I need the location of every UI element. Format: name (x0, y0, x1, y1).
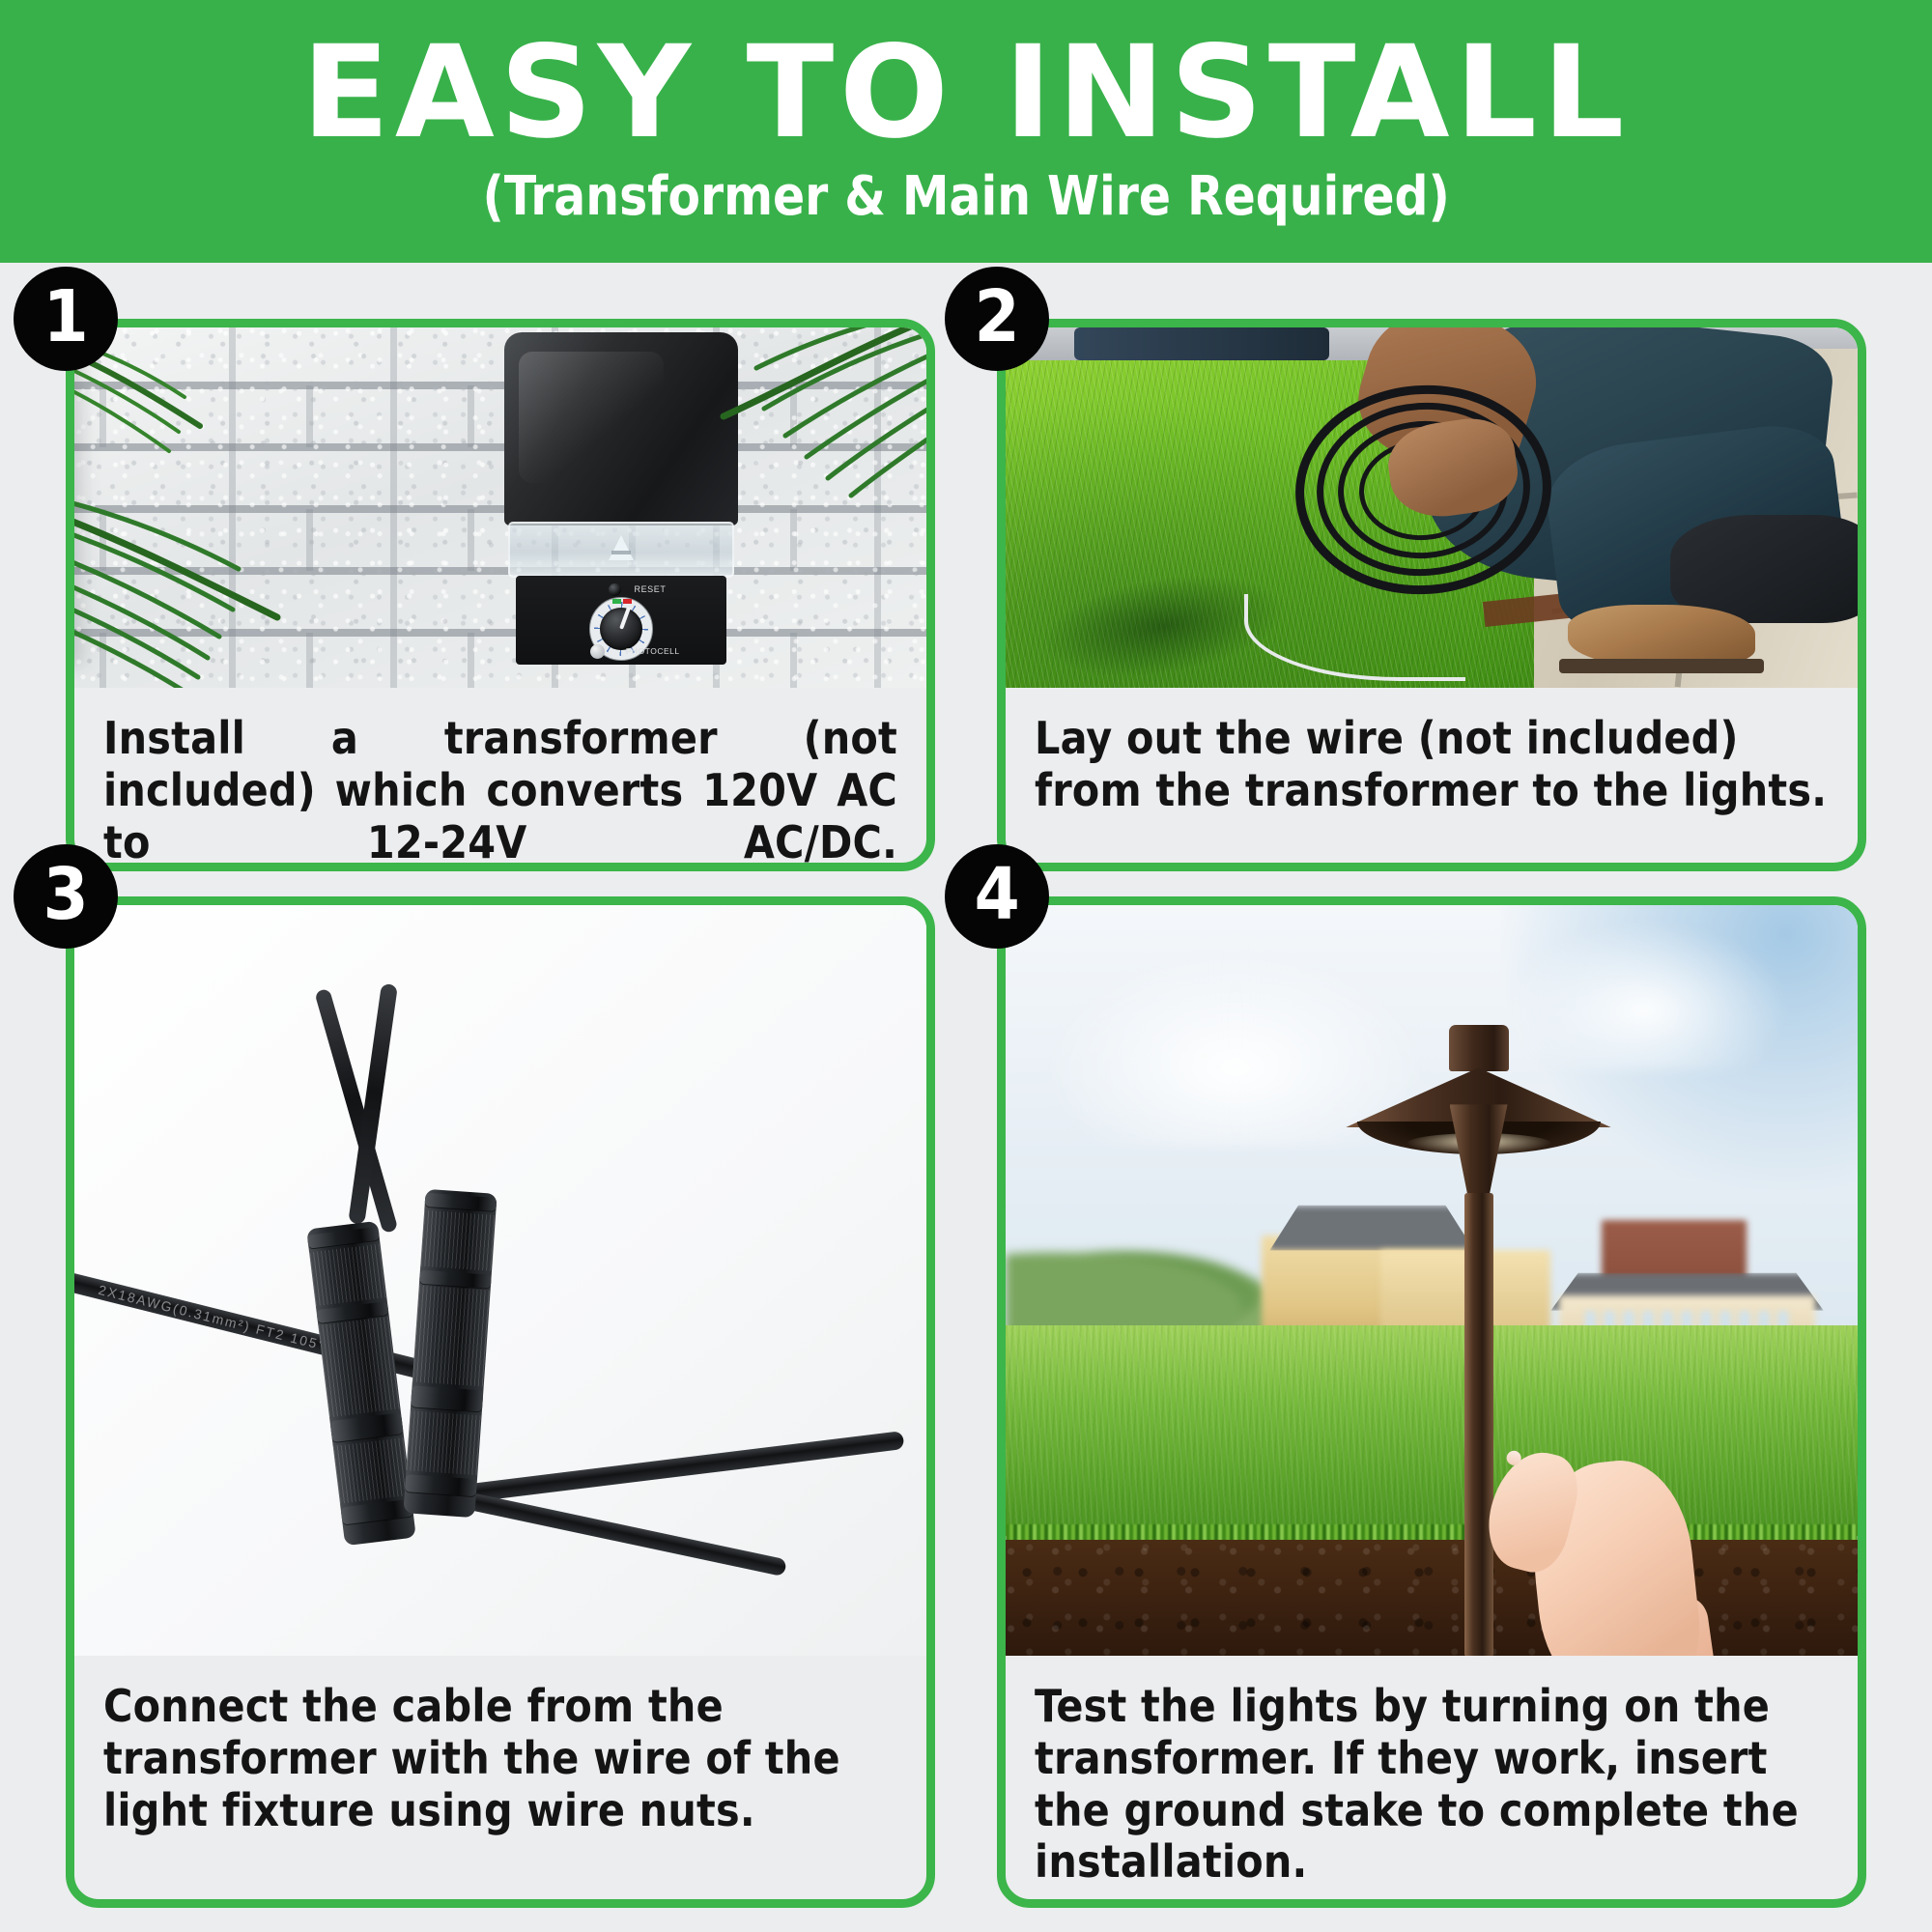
grass-texture (1006, 1325, 1858, 1536)
reset-label: RESET (634, 584, 666, 594)
lamp-top-cap (1449, 1025, 1509, 1071)
soil-cross-section (1006, 1540, 1858, 1656)
step-badge-1: 1 (14, 267, 118, 371)
cloud (1500, 921, 1790, 1070)
step-4-caption: Test the lights by turning on the transf… (1006, 1656, 1858, 1889)
step-card-2[interactable]: Lay out the wire (not included) from the… (997, 319, 1866, 871)
step-badge-4-number: 4 (974, 859, 1019, 930)
photocell-sensor (590, 644, 605, 659)
step-card-1[interactable]: RESET PHOTOCELL Install a transformer (n… (66, 319, 935, 871)
step-badge-3: 3 (14, 844, 118, 949)
lawn-grass (1006, 1325, 1858, 1536)
step-3-caption: Connect the cable from the transformer w… (74, 1656, 926, 1836)
step-badge-2-number: 2 (974, 281, 1019, 353)
step-badge-1-number: 1 (43, 281, 88, 353)
house-roof (1269, 1206, 1474, 1251)
step-3-image: 2X18AWG(0.31mm²) FT2 105°C 300V (74, 905, 926, 1656)
transformer-control-panel: RESET PHOTOCELL (516, 576, 726, 665)
steps-grid: RESET PHOTOCELL Install a transformer (n… (0, 263, 1932, 1932)
page-title: EASY TO INSTALL (302, 31, 1631, 156)
person-boot (1568, 605, 1755, 666)
dial-off-marker (623, 599, 632, 604)
dial-on-marker (612, 599, 621, 604)
step-4-image (1006, 905, 1858, 1656)
photocell-label: PHOTOCELL (626, 646, 680, 656)
boot-sole (1559, 659, 1764, 673)
step-1-image: RESET PHOTOCELL (74, 327, 926, 688)
background-equipment (1074, 327, 1330, 360)
ground-stake-stem (1464, 1193, 1493, 1656)
step-badge-3-number: 3 (43, 859, 88, 930)
step-2-image (1006, 327, 1858, 688)
transformer-device: RESET PHOTOCELL (504, 332, 738, 672)
step-card-3[interactable]: 2X18AWG(0.31mm²) FT2 105°C 300V (66, 896, 935, 1908)
reset-button[interactable] (609, 583, 621, 596)
transformer-shadow (74, 337, 90, 666)
brick-texture (74, 327, 926, 688)
step-card-4[interactable]: Test the lights by turning on the transf… (997, 896, 1866, 1908)
step-1-caption: Install a transformer (not included) whi… (74, 688, 926, 871)
transformer-clear-cover (508, 522, 734, 578)
step-badge-4: 4 (945, 844, 1049, 949)
step-badge-2: 2 (945, 267, 1049, 371)
cover-emblem-icon (609, 535, 634, 560)
transformer-housing (504, 332, 738, 526)
step-2-caption: Lay out the wire (not included) from the… (1006, 688, 1858, 817)
page-subtitle: (Transformer & Main Wire Required) (482, 169, 1449, 226)
white-backdrop (74, 905, 926, 1656)
thumbnail (1504, 1448, 1524, 1468)
header-banner: EASY TO INSTALL (Transformer & Main Wire… (0, 0, 1932, 263)
housing-highlight (519, 352, 664, 483)
hand-holding-fixture (1495, 1445, 1698, 1656)
